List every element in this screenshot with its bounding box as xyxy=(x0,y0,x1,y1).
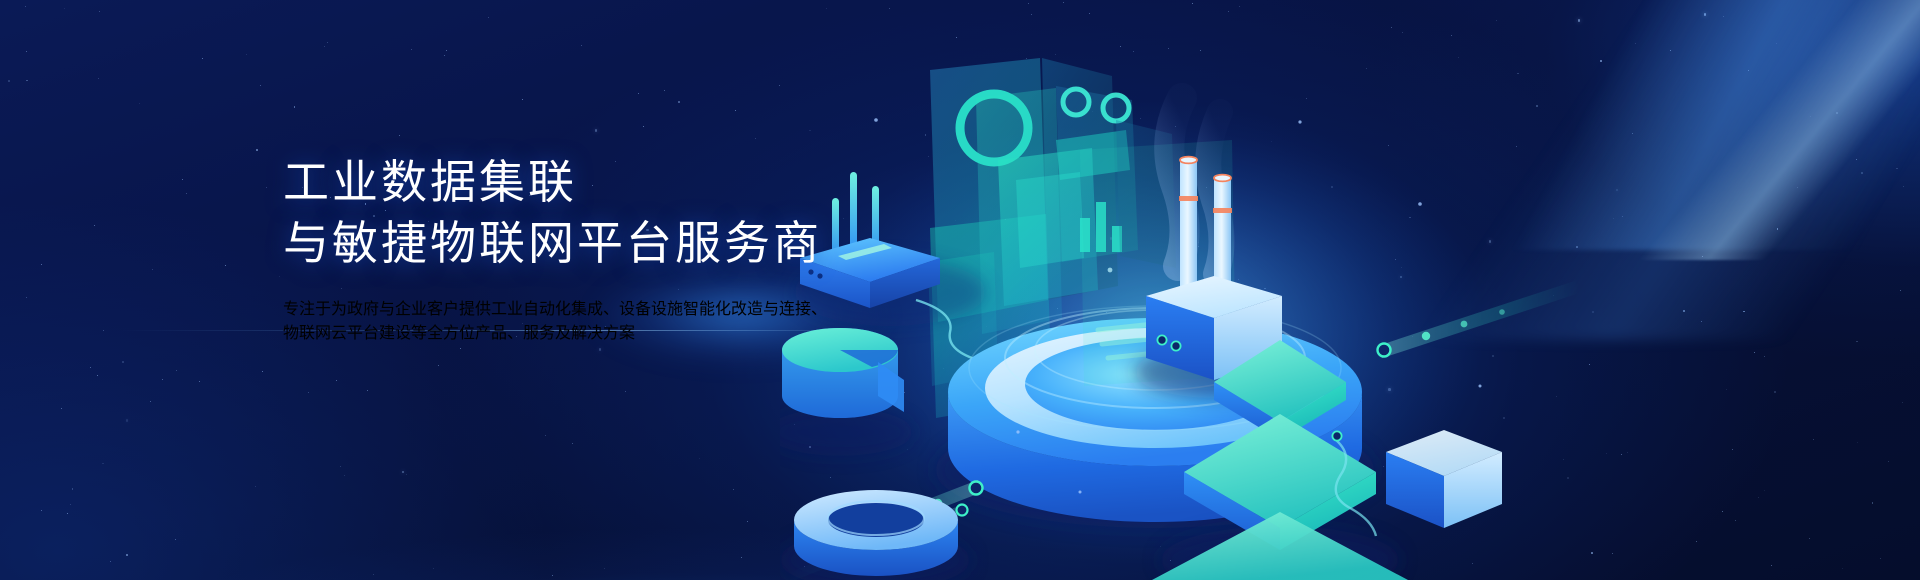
subtitle-line-1: 专注于为政府与企业客户提供工业自动化集成、设备设施智能化改造与连接、 xyxy=(283,295,903,319)
beam-node-left-2 xyxy=(957,505,968,516)
hero-banner: 工业数据集联 与敏捷物联网平台服务商 专注于为政府与企业客户提供工业自动化集成、… xyxy=(0,0,1920,580)
hero-copy-block: 工业数据集联 与敏捷物联网平台服务商 专注于为政府与企业客户提供工业自动化集成、… xyxy=(283,152,903,359)
beam-node-right-1 xyxy=(1378,344,1391,357)
beam-node-left-1 xyxy=(970,482,983,495)
ring-platform xyxy=(780,490,971,580)
headline-line-2: 与敏捷物联网平台服务商 xyxy=(283,213,903,274)
beam-dot-r1 xyxy=(1422,332,1430,340)
ring-hole xyxy=(828,503,924,537)
isometric-iot-illustration xyxy=(780,0,1920,580)
smokestack-1-band xyxy=(1179,196,1198,201)
smokestack-2-band xyxy=(1213,208,1232,213)
subtitle-line-2: 物联网云平台建设等全方位产品、服务及解决方案 xyxy=(283,319,903,343)
beam-dot-r2 xyxy=(1461,321,1468,328)
factory-port-1 xyxy=(1157,335,1166,344)
glass-panel-7 xyxy=(1016,172,1084,268)
page-title: 工业数据集联 与敏捷物联网平台服务商 xyxy=(283,152,903,273)
headline-line-1: 工业数据集联 xyxy=(283,152,903,213)
beam-dot-r3 xyxy=(1499,309,1505,315)
factory-port-2 xyxy=(1171,341,1180,350)
cable-node-disc xyxy=(1332,431,1341,440)
